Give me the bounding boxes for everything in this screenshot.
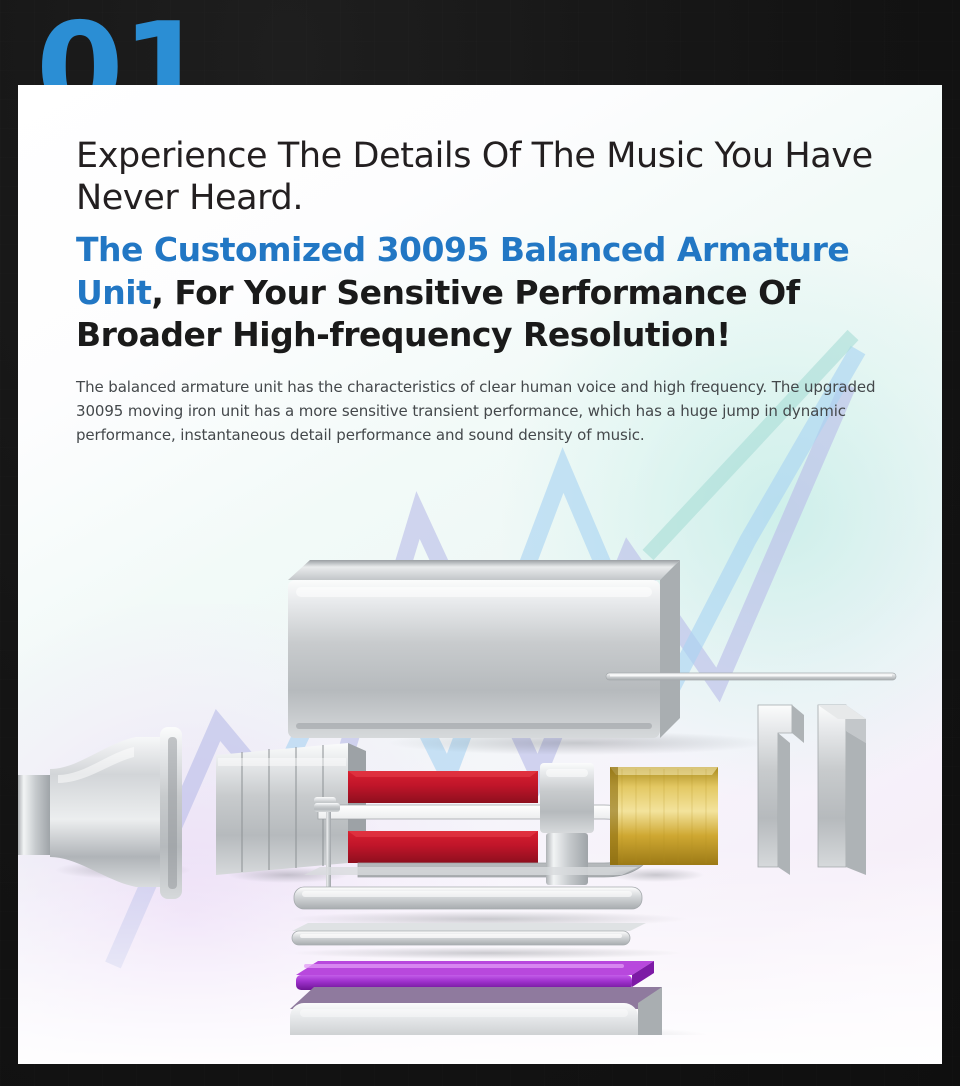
part-upper-magnet bbox=[348, 771, 538, 803]
part-sound-nozzle-spout bbox=[18, 727, 191, 899]
headline-rest-text: , For Your Sensitive Performance Of Broa… bbox=[76, 273, 800, 355]
part-center-coil-block bbox=[540, 763, 594, 885]
part-lower-magnet bbox=[348, 831, 538, 863]
headline-primary: Experience The Details Of The Music You … bbox=[76, 135, 886, 220]
body-paragraph: The balanced armature unit has the chara… bbox=[76, 376, 876, 447]
part-thin-connecting-rod bbox=[606, 673, 896, 680]
part-brass-coil-block bbox=[608, 767, 718, 882]
text-block: Experience The Details Of The Music You … bbox=[76, 135, 886, 447]
part-top-housing-cover bbox=[288, 560, 768, 755]
part-pole-piece-left bbox=[758, 705, 804, 875]
part-thin-shim-plate bbox=[292, 923, 683, 959]
product-illustration bbox=[18, 475, 942, 1035]
part-purple-diaphragm-membrane bbox=[296, 961, 654, 990]
part-bottom-housing-shell bbox=[288, 987, 708, 1035]
headline-secondary: The Customized 30095 Balanced Armature U… bbox=[76, 229, 886, 358]
content-card: Experience The Details Of The Music You … bbox=[18, 85, 942, 1064]
part-pole-piece-right bbox=[818, 705, 866, 875]
